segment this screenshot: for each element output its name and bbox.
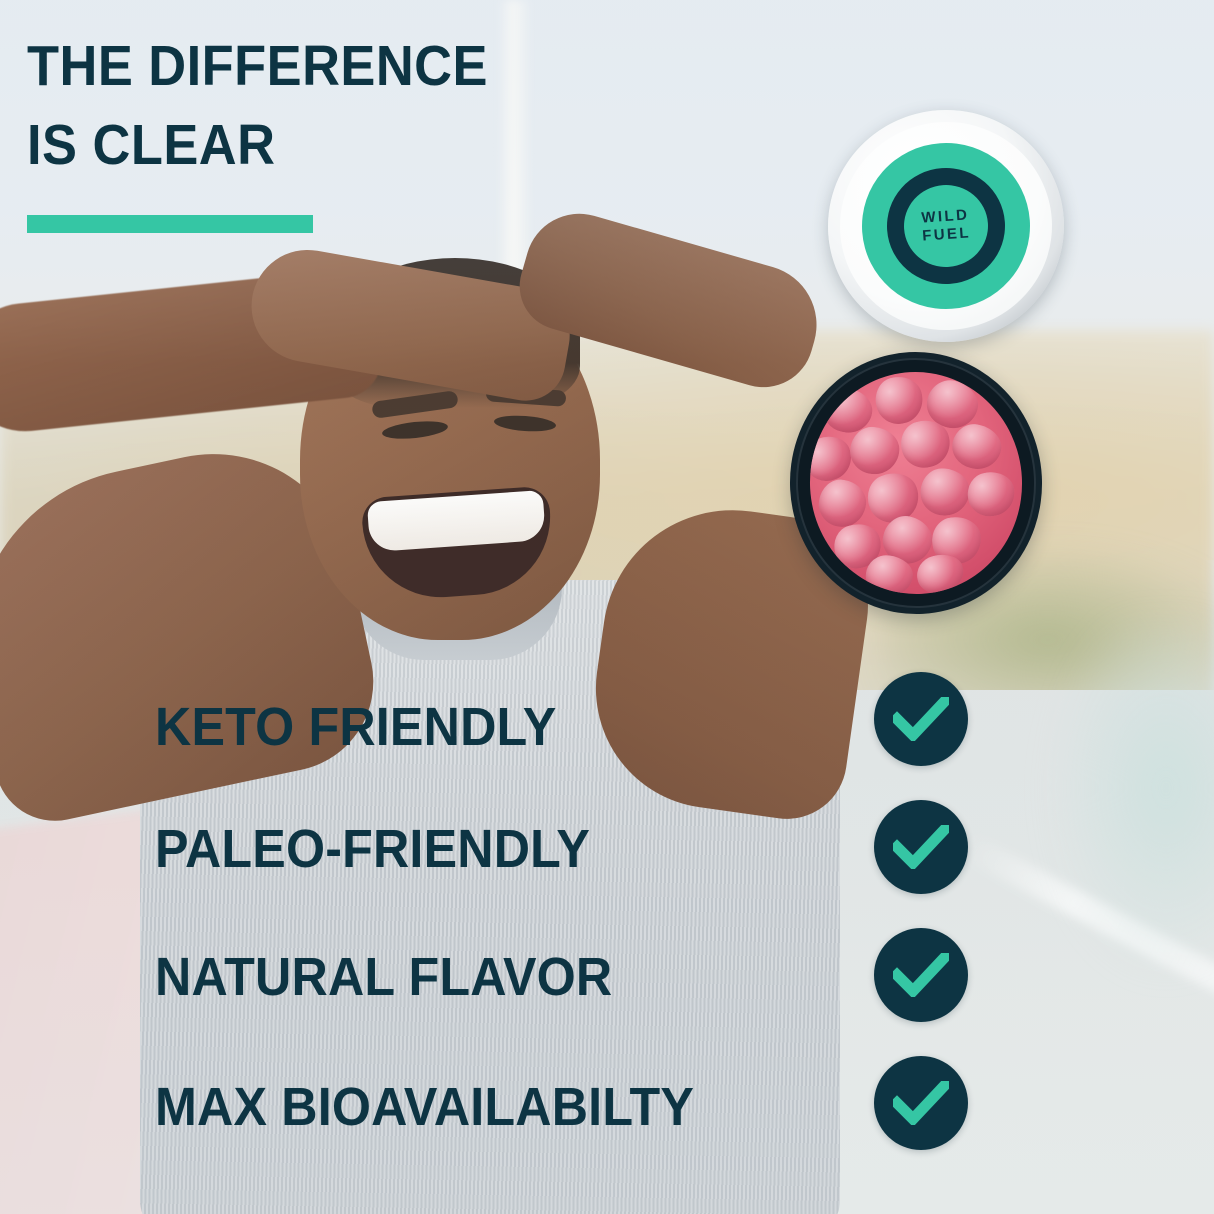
- tin-rim: [790, 352, 1043, 614]
- gummy: [920, 467, 971, 516]
- gummies-fill: [804, 367, 1027, 600]
- feature-label-paleo-friendly: PALEO-FRIENDLY: [155, 822, 590, 876]
- check-icon: [874, 928, 968, 1022]
- gummy: [964, 469, 1018, 521]
- feature-label-natural-flavor: NATURAL FLAVOR: [155, 950, 612, 1004]
- headline: THE DIFFERENCE IS CLEAR: [27, 27, 634, 185]
- brand-name-line-2: FUEL: [922, 224, 972, 245]
- feature-label-max-bioavailabilty: MAX BIOAVAILABILTY: [155, 1080, 694, 1134]
- headline-underline-bar: [27, 215, 313, 233]
- gummy: [816, 477, 869, 530]
- check-icon: [874, 672, 968, 766]
- check-icon: [874, 1056, 968, 1150]
- feature-label-keto-friendly: KETO FRIENDLY: [155, 700, 556, 754]
- gummy: [849, 425, 902, 476]
- check-icon: [874, 800, 968, 894]
- gummy: [871, 373, 926, 428]
- headline-line-2: IS CLEAR: [27, 106, 634, 185]
- marketing-banner: THE DIFFERENCE IS CLEAR WILD FUEL: [0, 0, 1214, 1214]
- gummy: [804, 430, 857, 487]
- headline-line-1: THE DIFFERENCE: [27, 27, 634, 106]
